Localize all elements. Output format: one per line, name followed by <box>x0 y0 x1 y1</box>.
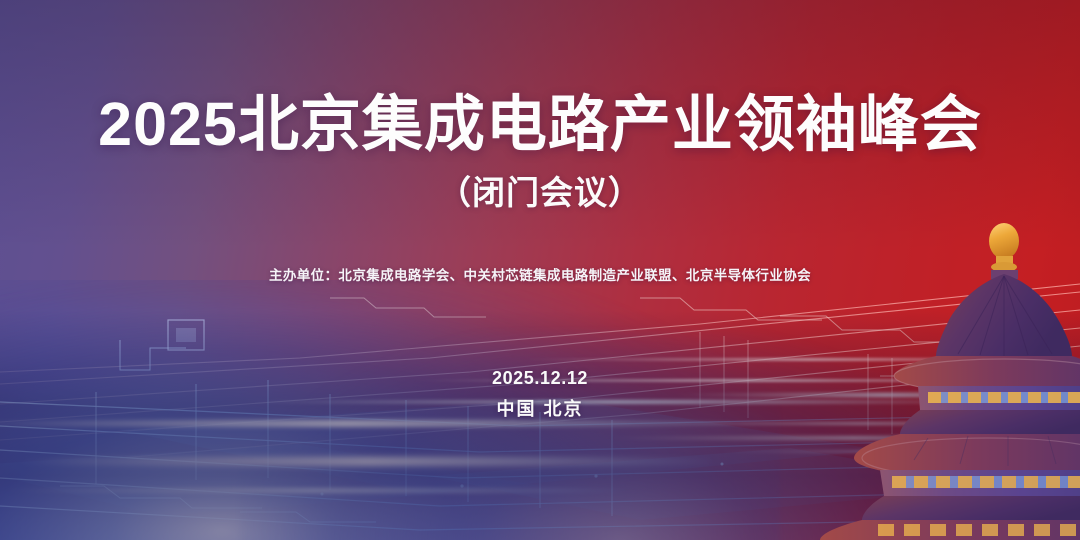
poster-text-content: 2025北京集成电路产业领袖峰会 （闭门会议） 主办单位：北京集成电路学会、中关… <box>0 0 1080 540</box>
organizer-line: 主办单位：北京集成电路学会、中关村芯链集成电路制造产业联盟、北京半导体行业协会 <box>0 269 1080 283</box>
conference-poster: 2025北京集成电路产业领袖峰会 （闭门会议） 主办单位：北京集成电路学会、中关… <box>0 0 1080 540</box>
page-title: 2025北京集成电路产业领袖峰会 <box>0 94 1080 155</box>
event-location: 中国 北京 <box>0 400 1080 418</box>
poster-subtitle: （闭门会议） <box>0 176 1080 209</box>
event-date: 2025.12.12 <box>0 369 1080 387</box>
